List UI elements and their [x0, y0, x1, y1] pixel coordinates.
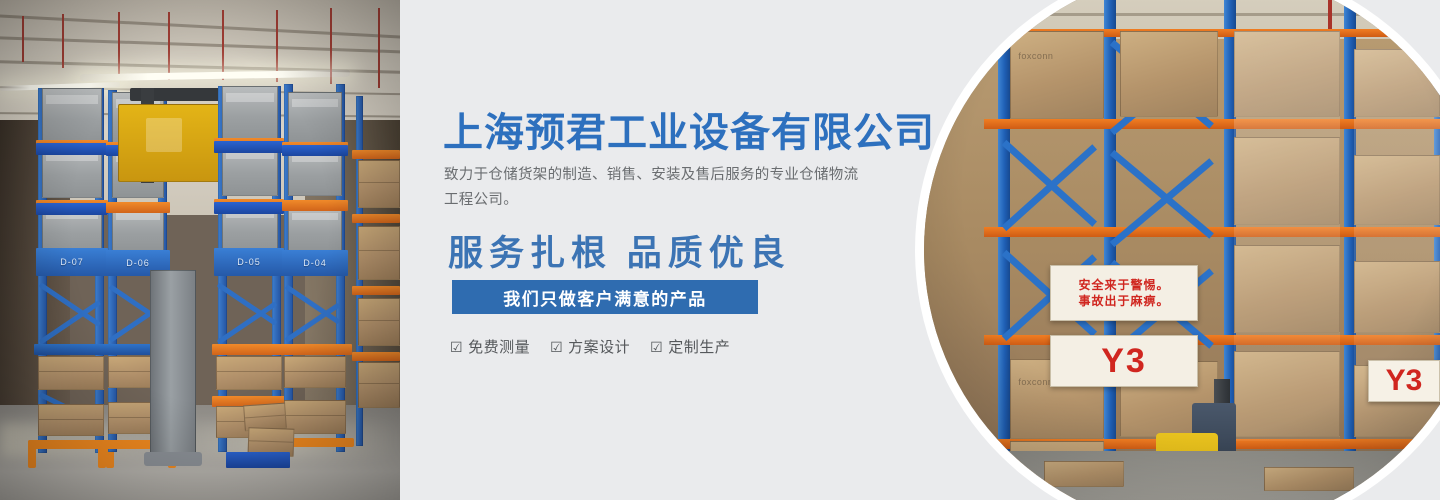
- feature-label: 定制生产: [668, 336, 730, 357]
- storage-tote: [112, 206, 164, 254]
- feature-label: 免费测量: [468, 336, 530, 357]
- carton: [216, 356, 282, 390]
- safety-sign-line-1: 安全来于警惕。: [1078, 277, 1169, 293]
- aisle-label: D-05: [214, 248, 284, 276]
- carton-brand-label: foxconn: [1018, 51, 1053, 61]
- carton: [284, 356, 346, 388]
- storage-tote: [288, 92, 342, 144]
- vna-window: [146, 118, 182, 152]
- edge-aisle-sign-label: Y3: [1386, 364, 1423, 398]
- carton: [1120, 31, 1218, 117]
- storage-tote: [42, 88, 102, 144]
- checkbox-check-icon: ☑: [650, 340, 663, 354]
- feature-label: 方案设计: [568, 336, 630, 357]
- pallet-stack: [1044, 461, 1124, 487]
- rack-beam: [34, 344, 110, 355]
- rack-upright: [1104, 0, 1116, 500]
- ceiling-rod: [378, 8, 380, 88]
- checkbox-check-icon: ☑: [450, 340, 463, 354]
- carton: [358, 160, 400, 208]
- rack-beam: [352, 352, 400, 361]
- ceiling-rod: [118, 12, 120, 74]
- carton: foxconn: [1010, 31, 1104, 119]
- feature-item: ☑ 免费测量: [450, 336, 530, 357]
- storage-tote: [288, 206, 342, 254]
- feature-item: ☑ 方案设计: [550, 336, 630, 357]
- carton: [358, 362, 400, 408]
- floor-guard: [28, 440, 36, 468]
- carton-brand-label: foxconn: [1018, 377, 1053, 387]
- cta-button[interactable]: 我们只做客户满意的产品: [452, 280, 758, 314]
- aisle-label: D-07: [36, 248, 108, 276]
- ceiling-rod: [62, 14, 64, 68]
- promo-banner: D-07 D-06: [0, 0, 1440, 500]
- carton: [38, 356, 104, 390]
- carton: [358, 298, 400, 346]
- aisle-label: D-04: [282, 250, 348, 276]
- blue-pallet: [282, 145, 348, 156]
- left-warehouse-photo: D-07 D-06: [0, 0, 400, 500]
- checkbox-check-icon: ☑: [550, 340, 563, 354]
- right-photo-area: foxconn foxconn foxconn 安全来于警惕。 事故出于: [860, 0, 1440, 500]
- ceiling-rod: [222, 10, 224, 80]
- rack-beam: [352, 150, 400, 159]
- blue-pallet: [36, 143, 108, 155]
- blue-pallet: [36, 203, 108, 215]
- blue-pallet: [214, 141, 284, 153]
- edge-aisle-sign: Y3: [1368, 360, 1440, 402]
- rack-beam: [106, 202, 170, 213]
- floor-guard: [98, 440, 106, 468]
- vna-base: [144, 452, 202, 466]
- ceiling-rod: [168, 12, 170, 80]
- rack-beam: [352, 214, 400, 223]
- carton: [358, 226, 400, 280]
- vna-truck-mast: [150, 270, 196, 460]
- slogan-text: 服务扎根 品质优良: [448, 225, 791, 276]
- stretch-wrap: [1234, 31, 1340, 441]
- floor: [924, 451, 1440, 500]
- rack-beam: [352, 286, 400, 295]
- ceiling-rod: [22, 16, 24, 62]
- right-warehouse-photo: foxconn foxconn foxconn 安全来于警惕。 事故出于: [924, 0, 1440, 500]
- company-subtitle: 致力于仓储货架的制造、销售、安装及售后服务的专业仓储物流工程公司。: [444, 163, 864, 213]
- feature-item: ☑ 定制生产: [650, 336, 730, 357]
- feature-list: ☑ 免费测量 ☑ 方案设计 ☑ 定制生产: [450, 336, 730, 357]
- circle-ring-border: foxconn foxconn foxconn 安全来于警惕。 事故出于: [915, 0, 1440, 500]
- rack-beam: [212, 344, 288, 355]
- storage-tote: [222, 86, 278, 142]
- safety-sign: 安全来于警惕。 事故出于麻痹。: [1050, 265, 1198, 321]
- carton: [38, 404, 104, 436]
- pallet-stack: [1264, 467, 1354, 491]
- blue-pallet: [226, 452, 290, 468]
- blue-pallet: [214, 202, 284, 214]
- rack-beam: [282, 200, 348, 211]
- safety-sign-line-2: 事故出于麻痹。: [1078, 293, 1169, 309]
- rack-beam: [280, 344, 352, 355]
- aisle-sign-label: Y3: [1101, 344, 1147, 378]
